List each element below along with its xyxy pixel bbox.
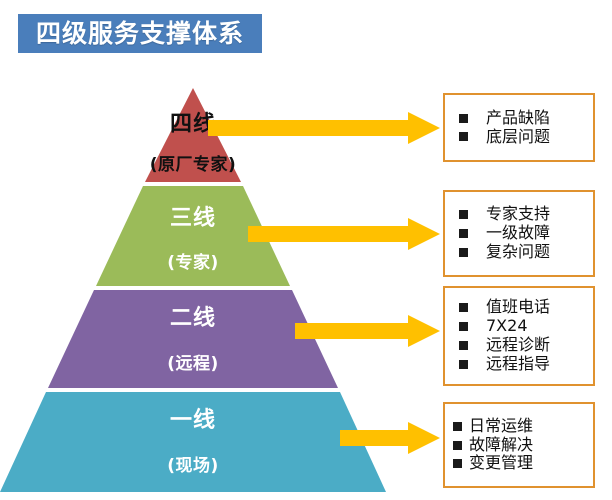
callout-tier-3[interactable]: 专家支持 一级故障 复杂问题 [443,190,595,277]
list-item: 故障解决 [445,436,593,455]
list-item: 值班电话 [445,298,593,317]
list-item-label: 底层问题 [486,128,550,147]
list-item-label: 专家支持 [486,205,550,224]
square-bullet-icon [459,248,468,257]
list-item-label: 远程诊断 [486,336,550,355]
list-item-label: 值班电话 [486,298,550,317]
square-bullet-icon [459,341,468,350]
list-item-label: 故障解决 [469,436,533,455]
slide-canvas: 四级服务支撑体系 四线 (原厂专家) 三线 (专家) 二线 (远程) 一线 (现… [0,0,612,500]
list-item: 产品缺陷 [445,109,593,128]
square-bullet-icon [459,322,468,331]
callout-tier-4[interactable]: 产品缺陷 底层问题 [443,93,595,162]
list-item: 复杂问题 [445,243,593,262]
list-item: 7X24 [445,317,593,336]
list-item: 日常运维 [445,417,593,436]
square-bullet-icon [459,303,468,312]
square-bullet-icon [459,210,468,219]
list-item: 远程诊断 [445,336,593,355]
list-item-label: 远程指导 [486,355,550,374]
square-bullet-icon [459,132,468,141]
pyramid-tier-3-sublabel: (专家) [133,255,253,272]
square-bullet-icon [459,229,468,238]
list-item: 远程指导 [445,355,593,374]
list-item-label: 产品缺陷 [486,109,550,128]
square-bullet-icon [459,360,468,369]
list-item-label: 一级故障 [486,224,550,243]
list-item: 底层问题 [445,128,593,147]
pyramid-tier-1-shape [0,392,386,492]
arrow-to-callout-tier-4 [208,112,440,144]
list-item: 变更管理 [445,454,593,473]
square-bullet-icon [453,459,462,468]
pyramid-tier-4-sublabel: (原厂专家) [118,157,268,174]
pyramid-tier-1-sublabel: (现场) [133,458,253,475]
page-title-banner: 四级服务支撑体系 [18,14,262,53]
arrow-to-callout-tier-1 [340,422,440,454]
list-item-label: 7X24 [486,317,528,336]
page-title: 四级服务支撑体系 [36,21,244,46]
square-bullet-icon [459,114,468,123]
callout-tier-2[interactable]: 值班电话 7X24 远程诊断 远程指导 [443,286,595,386]
callout-tier-1[interactable]: 日常运维 故障解决 变更管理 [443,402,595,488]
arrow-right-icon [295,315,440,347]
arrow-to-callout-tier-3 [248,218,440,250]
pyramid-tier-2-sublabel: (远程) [133,356,253,373]
pyramid-tier-3-label: 三线 [143,208,243,230]
list-item-label: 变更管理 [469,454,533,473]
arrow-right-icon [208,112,440,144]
list-item: 专家支持 [445,205,593,224]
arrow-to-callout-tier-2 [295,315,440,347]
list-item-label: 复杂问题 [486,243,550,262]
list-item-label: 日常运维 [469,417,533,436]
pyramid-tier-1-label: 一线 [143,410,243,432]
square-bullet-icon [453,441,462,450]
arrow-right-icon [248,218,440,250]
square-bullet-icon [453,422,462,431]
pyramid-tier-2-label: 二线 [143,308,243,330]
list-item: 一级故障 [445,224,593,243]
arrow-right-icon [340,422,440,454]
